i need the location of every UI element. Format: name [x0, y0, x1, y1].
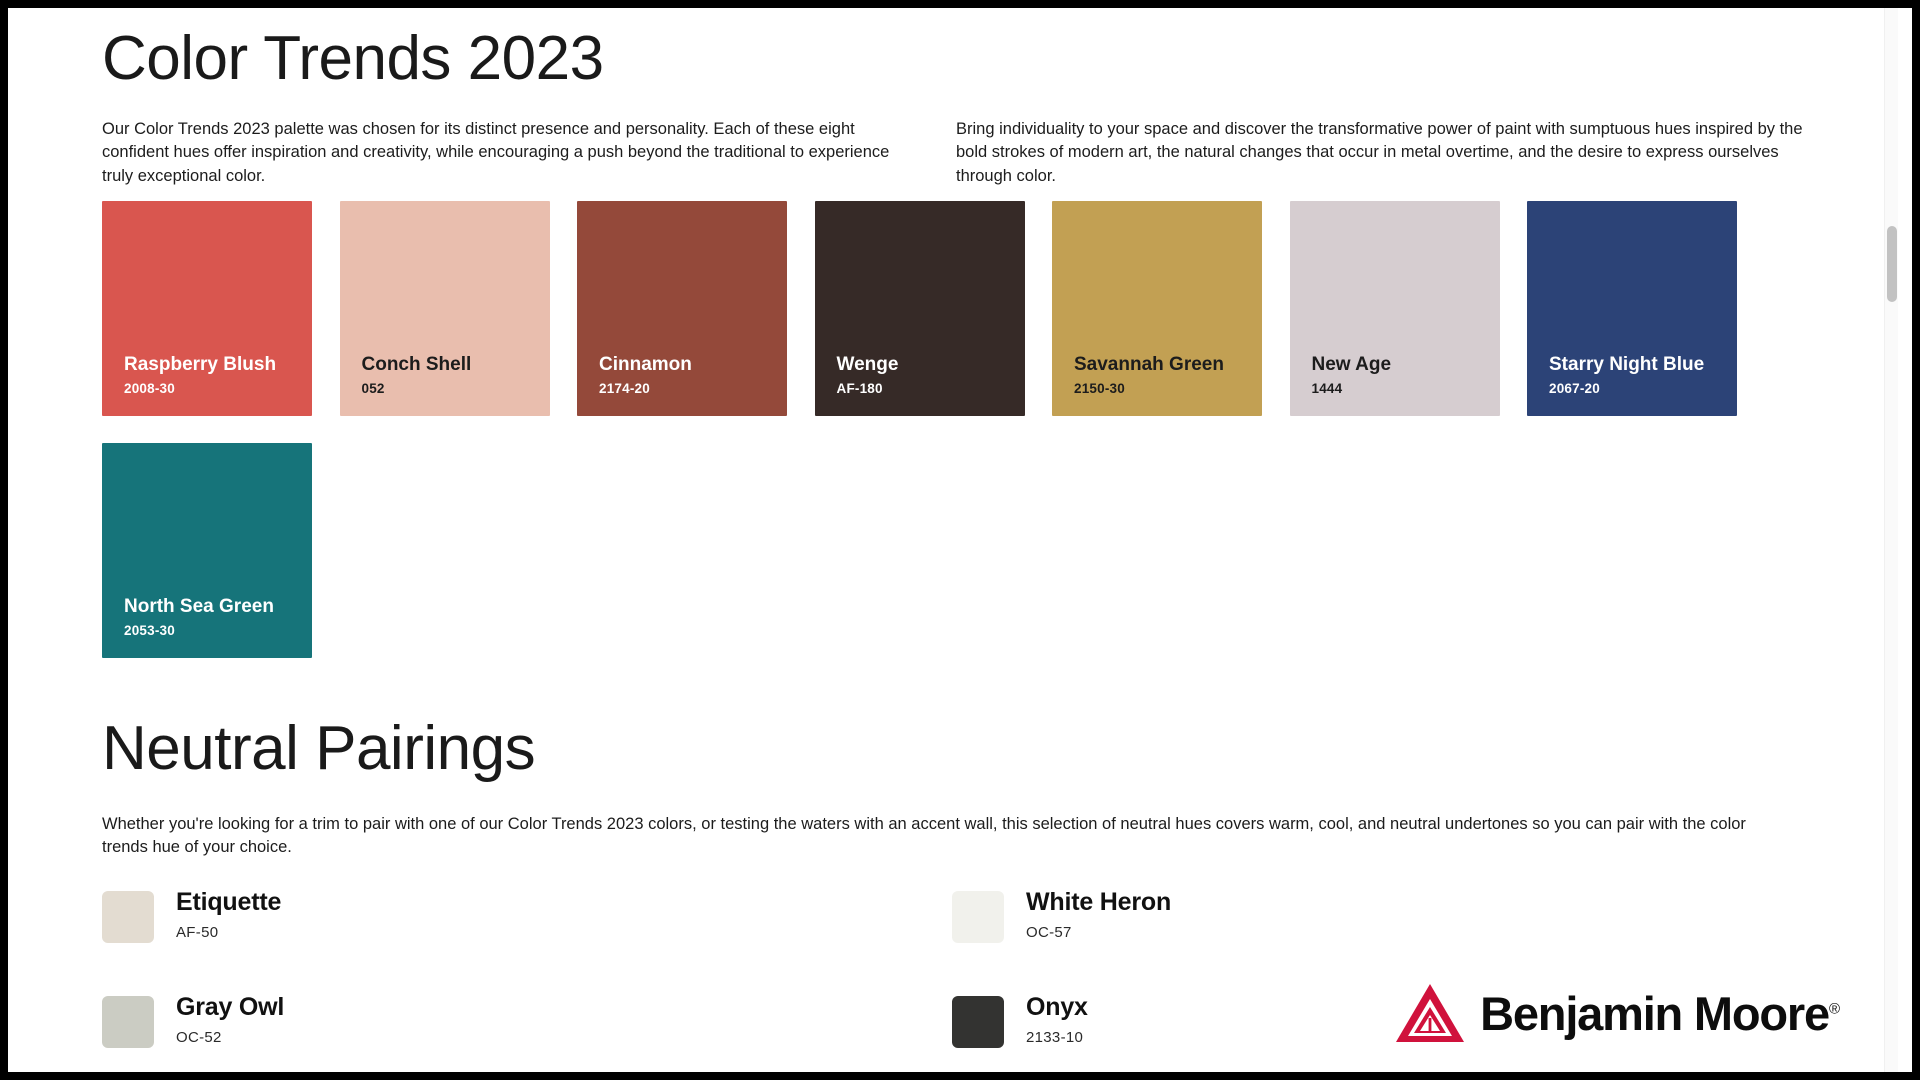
neutral-item-white-heron[interactable]: White Heron OC-57 [952, 888, 1802, 993]
swatch-code: 2008-30 [124, 381, 302, 396]
neutral-info: Onyx 2133-10 [1026, 993, 1088, 1046]
intro-paragraph-left: Our Color Trends 2023 palette was chosen… [102, 118, 922, 188]
neutral-code: OC-57 [1026, 924, 1171, 941]
neutral-column-right: White Heron OC-57 Onyx 2133-10 [952, 888, 1802, 1072]
swatch-code: 2053-30 [124, 623, 302, 638]
neutral-name: Gray Owl [176, 993, 284, 1022]
vertical-scrollbar-track[interactable] [1884, 8, 1898, 1072]
swatch-label: Conch Shell 052 [362, 353, 540, 396]
neutral-code: AF-50 [176, 924, 281, 941]
benjamin-moore-logo[interactable]: Benjamin Moore® [1394, 982, 1840, 1044]
neutral-code: 2133-10 [1026, 1029, 1088, 1046]
neutral-pairings-grid: Etiquette AF-50 Gray Owl OC-52 [102, 888, 1802, 1072]
swatch-label: North Sea Green 2053-30 [124, 595, 302, 638]
swatch-code: 052 [362, 381, 540, 396]
swatch-code: 2067-20 [1549, 381, 1727, 396]
swatch-name: Wenge [837, 353, 1015, 377]
neutral-info: White Heron OC-57 [1026, 888, 1171, 941]
swatch-new-age[interactable]: New Age 1444 [1290, 201, 1500, 416]
swatch-savannah-green[interactable]: Savannah Green 2150-30 [1052, 201, 1262, 416]
swatch-north-sea-green[interactable]: North Sea Green 2053-30 [102, 443, 312, 658]
swatch-starry-night-blue[interactable]: Starry Night Blue 2067-20 [1527, 201, 1737, 416]
swatch-label: Starry Night Blue 2067-20 [1549, 353, 1727, 396]
swatch-name: Starry Night Blue [1549, 353, 1727, 377]
neutral-name: White Heron [1026, 888, 1171, 917]
neutral-columns: Etiquette AF-50 Gray Owl OC-52 [102, 888, 1802, 1072]
swatch-name: Savannah Green [1074, 353, 1252, 377]
neutral-code: OC-52 [176, 1029, 284, 1046]
vertical-scrollbar-thumb[interactable] [1887, 226, 1897, 302]
neutral-chip [952, 996, 1004, 1048]
neutral-name: Etiquette [176, 888, 281, 917]
page-content: Color Trends 2023 Our Color Trends 2023 … [8, 8, 1898, 1072]
page-title-color-trends: Color Trends 2023 [102, 26, 604, 91]
brand-name: Benjamin Moore [1480, 987, 1829, 1040]
swatch-wenge[interactable]: Wenge AF-180 [815, 201, 1025, 416]
swatch-name: New Age [1312, 353, 1490, 377]
neutral-chip [952, 891, 1004, 943]
neutral-column-left: Etiquette AF-50 Gray Owl OC-52 [102, 888, 952, 1072]
swatch-code: 2150-30 [1074, 381, 1252, 396]
swatch-row: Raspberry Blush 2008-30 Conch Shell 052 … [102, 201, 1822, 416]
swatch-name: North Sea Green [124, 595, 302, 619]
neutral-item-gray-owl[interactable]: Gray Owl OC-52 [102, 993, 952, 1072]
neutral-item-etiquette[interactable]: Etiquette AF-50 [102, 888, 952, 993]
swatch-label: Wenge AF-180 [837, 353, 1015, 396]
swatch-name: Conch Shell [362, 353, 540, 377]
neutral-chip [102, 996, 154, 1048]
swatch-label: New Age 1444 [1312, 353, 1490, 396]
page-title-neutral-pairings: Neutral Pairings [102, 716, 535, 781]
swatch-label: Cinnamon 2174-20 [599, 353, 777, 396]
swatch-code: AF-180 [837, 381, 1015, 396]
brand-wordmark: Benjamin Moore® [1480, 990, 1840, 1037]
swatch-label: Raspberry Blush 2008-30 [124, 353, 302, 396]
swatch-raspberry-blush[interactable]: Raspberry Blush 2008-30 [102, 201, 312, 416]
registered-trademark-symbol: ® [1829, 1000, 1840, 1017]
color-swatch-grid: Raspberry Blush 2008-30 Conch Shell 052 … [102, 201, 1822, 658]
swatch-row: North Sea Green 2053-30 [102, 443, 1822, 658]
swatch-cinnamon[interactable]: Cinnamon 2174-20 [577, 201, 787, 416]
swatch-code: 2174-20 [599, 381, 777, 396]
neutral-name: Onyx [1026, 993, 1088, 1022]
neutral-chip [102, 891, 154, 943]
swatch-name: Raspberry Blush [124, 353, 302, 377]
neutral-info: Etiquette AF-50 [176, 888, 281, 941]
swatch-label: Savannah Green 2150-30 [1074, 353, 1252, 396]
swatch-code: 1444 [1312, 381, 1490, 396]
intro-paragraph-right: Bring individuality to your space and di… [956, 118, 1816, 188]
browser-viewport: Color Trends 2023 Our Color Trends 2023 … [8, 8, 1912, 1072]
swatch-name: Cinnamon [599, 353, 777, 377]
neutral-info: Gray Owl OC-52 [176, 993, 284, 1046]
swatch-conch-shell[interactable]: Conch Shell 052 [340, 201, 550, 416]
neutral-intro-paragraph: Whether you're looking for a trim to pai… [102, 813, 1792, 860]
triangle-mountain-icon [1394, 982, 1466, 1044]
